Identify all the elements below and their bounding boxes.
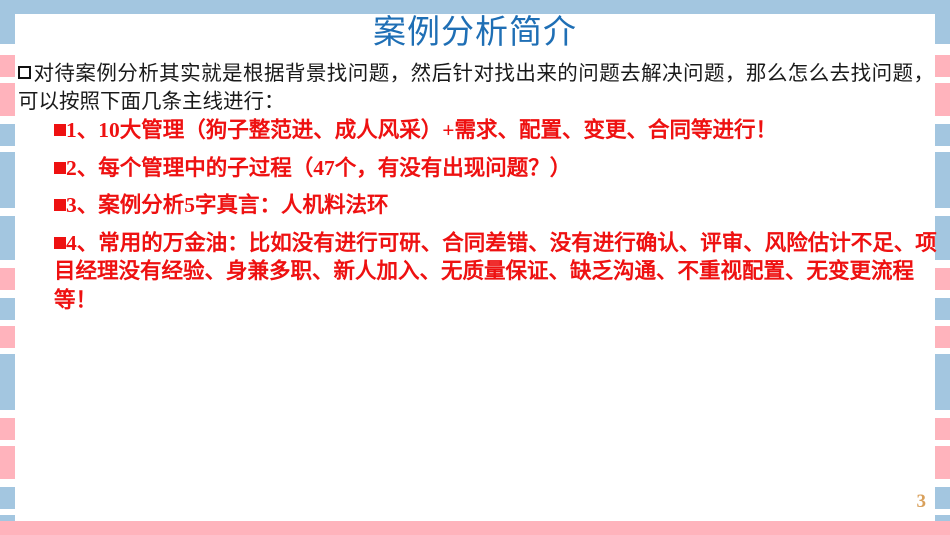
bullet-item-text: 1、10大管理（狗子整范进、成人风采）+需求、配置、变更、合同等进行！ [66,118,777,142]
bullet-item-text: 3、案例分析5字真言：人机料法环 [66,193,389,217]
frame-segment-right [935,55,950,77]
slide-canvas: 案例分析简介 对待案例分析其实就是根据背景找问题，然后针对找出来的问题去解决问题… [0,0,950,535]
bullet-item: 4、常用的万金油：比如没有进行可研、合同差错、没有进行确认、评审、风险估计不足、… [54,229,938,315]
frame-segment-left [0,216,15,260]
bullet-item-text: 2、每个管理中的子过程（47个，有没有出现问题？） [66,156,571,180]
frame-segment-left [0,326,15,348]
solid-square-bullet-icon [54,199,66,211]
page-title: 案例分析简介 [0,11,950,53]
frame-segment-left [0,268,15,290]
frame-segment-right [935,326,950,348]
page-number: 3 [917,491,927,513]
bullet-item: 1、10大管理（狗子整范进、成人风采）+需求、配置、变更、合同等进行！ [54,116,938,145]
frame-segment-right [935,354,950,410]
frame-segment-left [0,354,15,410]
solid-square-bullet-icon [54,124,66,136]
intro-text: 对待案例分析其实就是根据背景找问题，然后针对找出来的问题去解决问题，那么怎么去找… [18,63,934,113]
bullet-item: 3、案例分析5字真言：人机料法环 [54,191,938,220]
frame-segment-left [0,446,15,479]
frame-segment-left [0,83,15,116]
frame-bottom-bar [0,521,950,535]
bullet-item: 2、每个管理中的子过程（47个，有没有出现问题？） [54,154,938,183]
frame-segment-left [0,55,15,77]
frame-segment-left [0,298,15,320]
hollow-square-bullet-icon [18,66,31,79]
red-bullet-list: 1、10大管理（狗子整范进、成人风采）+需求、配置、变更、合同等进行！2、每个管… [54,116,938,314]
frame-segment-right [935,446,950,479]
frame-segment-left [0,487,15,509]
frame-segment-right [935,487,950,509]
bullet-item-text: 4、常用的万金油：比如没有进行可研、合同差错、没有进行确认、评审、风险估计不足、… [54,231,937,312]
solid-square-bullet-icon [54,162,66,174]
frame-segment-left [0,152,15,208]
frame-segment-right [935,418,950,440]
frame-segment-right [935,83,950,116]
intro-paragraph: 对待案例分析其实就是根据背景找问题，然后针对找出来的问题去解决问题，那么怎么去找… [18,60,934,116]
solid-square-bullet-icon [54,237,66,249]
frame-segment-left [0,124,15,146]
frame-segment-left [0,418,15,440]
